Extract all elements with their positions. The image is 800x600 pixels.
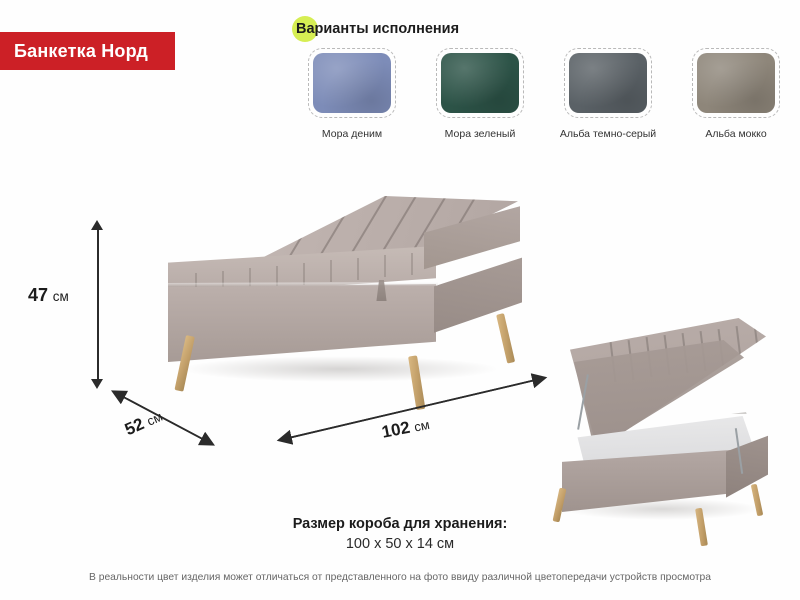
- height-dimension-line: [97, 228, 99, 380]
- color-disclaimer-text: В реальности цвет изделия может отличать…: [0, 572, 800, 583]
- storage-caption-value: 100 x 50 x 14 см: [0, 536, 800, 552]
- storage-size-caption: Размер короба для хранения: 100 x 50 x 1…: [0, 516, 800, 552]
- lid-front-tuft-channel: [303, 263, 305, 285]
- bench-base-side-panel: [434, 256, 522, 336]
- swatch-frame: [308, 48, 396, 118]
- swatch-item[interactable]: Мора зеленый: [416, 48, 544, 148]
- swatch-color-chip: [569, 53, 647, 113]
- height-arrow-head-top: [91, 220, 103, 230]
- depth-dimension-arrow: [108, 386, 226, 448]
- bench-base-front-panel: [168, 284, 436, 362]
- product-spec-sheet: Банкетка Норд Варианты исполнения Мора д…: [0, 0, 800, 600]
- lid-front-tuft-channel: [411, 253, 413, 275]
- height-unit: см: [53, 289, 69, 304]
- lid-front-tuft-channel: [357, 258, 359, 280]
- swatch-item[interactable]: Мора деним: [288, 48, 416, 148]
- open-lid-tuft-channel: [754, 324, 761, 364]
- product-photo-bench-open: [548, 312, 780, 550]
- swatch-color-chip: [697, 53, 775, 113]
- product-title: Банкетка Норд: [14, 41, 148, 62]
- lid-front-tuft-channel: [330, 260, 332, 282]
- swatch-color-chip: [441, 53, 519, 113]
- storage-caption-title: Размер короба для хранения:: [0, 516, 800, 532]
- swatch-frame: [564, 48, 652, 118]
- height-arrow-head-bottom: [91, 379, 103, 389]
- width-unit: см: [413, 417, 431, 435]
- variants-section-header: Варианты исполнения: [296, 16, 459, 42]
- width-value: 102: [380, 418, 411, 442]
- swatch-color-chip: [313, 53, 391, 113]
- lid-front-tuft-channel: [384, 255, 386, 277]
- variants-header-label: Варианты исполнения: [296, 21, 459, 37]
- swatch-item[interactable]: Альба мокко: [672, 48, 800, 148]
- swatch-item[interactable]: Альба темно-серый: [544, 48, 672, 148]
- swatch-frame: [692, 48, 780, 118]
- fabric-swatch-row: Мора деним Мора зеленый Альба темно-серы…: [288, 48, 800, 148]
- swatch-label: Мора зеленый: [445, 128, 516, 140]
- swatch-label: Альба темно-серый: [560, 128, 656, 140]
- swatch-label: Альба мокко: [705, 128, 766, 140]
- swatch-label: Мора деним: [322, 128, 382, 140]
- swatch-frame: [436, 48, 524, 118]
- depth-arrow-svg: [108, 386, 228, 450]
- height-value: 47: [28, 285, 48, 305]
- height-dimension-label: 47 см: [28, 285, 69, 306]
- product-title-badge: Банкетка Норд: [0, 32, 175, 70]
